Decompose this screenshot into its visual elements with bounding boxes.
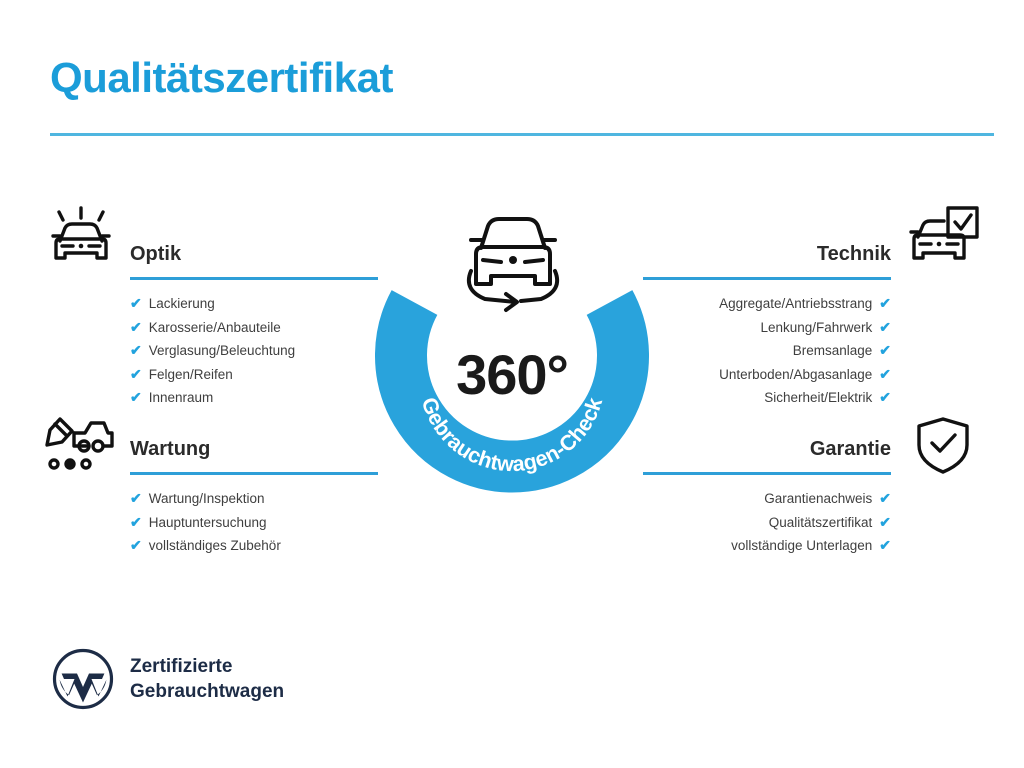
list-item: Aggregate/Antriebsstrang✔ — [643, 292, 891, 316]
check-icon: ✔ — [879, 490, 891, 506]
check-icon: ✔ — [130, 389, 142, 405]
section-header: Technik — [643, 240, 891, 280]
check-icon: ✔ — [130, 537, 142, 553]
checklist-optik: ✔Lackierung ✔Karosserie/Anbauteile ✔Verg… — [130, 292, 378, 410]
list-item: Qualitätszertifikat✔ — [643, 511, 891, 535]
list-item: Unterboden/Abgasanlage✔ — [643, 363, 891, 387]
list-item: ✔Verglasung/Beleuchtung — [130, 339, 378, 363]
car-front-checkbox-icon — [906, 203, 982, 274]
list-item-label: Hauptuntersuchung — [149, 515, 267, 530]
list-item: Sicherheit/Elektrik✔ — [643, 386, 891, 410]
badge-360-gebrauchtwagen-check: 360° Gebrauchtwagen-Check — [375, 192, 649, 508]
section-garantie: Garantie Garantienachweis✔ Qualitätszert… — [643, 435, 891, 558]
check-icon: ✔ — [879, 389, 891, 405]
list-item: Bremsanlage✔ — [643, 339, 891, 363]
list-item: ✔Felgen/Reifen — [130, 363, 378, 387]
footer-logo-lockup: Zertifizierte Gebrauchtwagen — [52, 648, 284, 710]
list-item: ✔Karosserie/Anbauteile — [130, 316, 378, 340]
check-icon: ✔ — [879, 342, 891, 358]
list-item-label: Lenkung/Fahrwerk — [760, 320, 872, 335]
section-title: Optik — [130, 240, 378, 268]
car-front-shine-icon — [45, 203, 117, 274]
list-item: vollständige Unterlagen✔ — [643, 534, 891, 558]
list-item: ✔Innenraum — [130, 386, 378, 410]
checklist-garantie: Garantienachweis✔ Qualitätszertifikat✔ v… — [643, 487, 891, 558]
section-technik: Technik Aggregate/Antriebsstrang✔ Lenkun… — [643, 240, 891, 410]
ring-label-text: Gebrauchtwagen-Check — [417, 394, 607, 476]
list-item-label: Lackierung — [149, 296, 215, 311]
section-divider — [130, 277, 378, 280]
check-icon: ✔ — [879, 537, 891, 553]
list-item-label: vollständige Unterlagen — [731, 538, 872, 553]
vw-logo — [52, 648, 114, 710]
check-icon: ✔ — [130, 514, 142, 530]
list-item: ✔Hauptuntersuchung — [130, 511, 378, 535]
list-item-label: Bremsanlage — [793, 343, 873, 358]
list-item-label: Qualitätszertifikat — [769, 515, 873, 530]
check-icon: ✔ — [130, 366, 142, 382]
list-item: ✔Wartung/Inspektion — [130, 487, 378, 511]
check-icon: ✔ — [879, 366, 891, 382]
section-divider — [130, 472, 378, 475]
section-divider — [643, 277, 891, 280]
list-item: Lenkung/Fahrwerk✔ — [643, 316, 891, 340]
check-icon: ✔ — [879, 295, 891, 311]
section-header: Wartung — [130, 435, 378, 475]
list-item-label: Garantienachweis — [764, 491, 872, 506]
check-icon: ✔ — [130, 490, 142, 506]
list-item-label: Wartung/Inspektion — [149, 491, 265, 506]
svg-text:Gebrauchtwagen-Check: Gebrauchtwagen-Check — [417, 394, 607, 476]
section-title: Garantie — [643, 435, 891, 463]
section-divider — [643, 472, 891, 475]
page-title: Qualitätszertifikat — [50, 54, 393, 102]
check-icon: ✔ — [130, 342, 142, 358]
section-title: Technik — [643, 240, 891, 268]
shield-check-icon — [912, 414, 974, 481]
section-title: Wartung — [130, 435, 378, 463]
check-icon: ✔ — [879, 514, 891, 530]
footer-text: Zertifizierte Gebrauchtwagen — [130, 654, 284, 704]
list-item-label: Unterboden/Abgasanlage — [719, 367, 872, 382]
list-item-label: Verglasung/Beleuchtung — [149, 343, 295, 358]
check-icon: ✔ — [130, 319, 142, 335]
list-item: ✔vollständiges Zubehör — [130, 534, 378, 558]
list-item: Garantienachweis✔ — [643, 487, 891, 511]
section-wartung: Wartung ✔Wartung/Inspektion ✔Hauptunters… — [130, 435, 378, 558]
section-optik: Optik ✔Lackierung ✔Karosserie/Anbauteile… — [130, 240, 378, 410]
list-item: ✔Lackierung — [130, 292, 378, 316]
section-header: Optik — [130, 240, 378, 280]
list-item-label: Sicherheit/Elektrik — [764, 390, 872, 405]
pencil-car-service-icon — [42, 414, 118, 481]
list-item-label: Aggregate/Antriebsstrang — [719, 296, 872, 311]
list-item-label: vollständiges Zubehör — [149, 538, 281, 553]
title-divider — [50, 133, 994, 136]
checklist-wartung: ✔Wartung/Inspektion ✔Hauptuntersuchung ✔… — [130, 487, 378, 558]
check-icon: ✔ — [879, 319, 891, 335]
list-item-label: Karosserie/Anbauteile — [149, 320, 281, 335]
list-item-label: Innenraum — [149, 390, 214, 405]
check-icon: ✔ — [130, 295, 142, 311]
badge-ring-label: Gebrauchtwagen-Check — [375, 192, 649, 508]
list-item-label: Felgen/Reifen — [149, 367, 233, 382]
checklist-technik: Aggregate/Antriebsstrang✔ Lenkung/Fahrwe… — [643, 292, 891, 410]
section-header: Garantie — [643, 435, 891, 475]
